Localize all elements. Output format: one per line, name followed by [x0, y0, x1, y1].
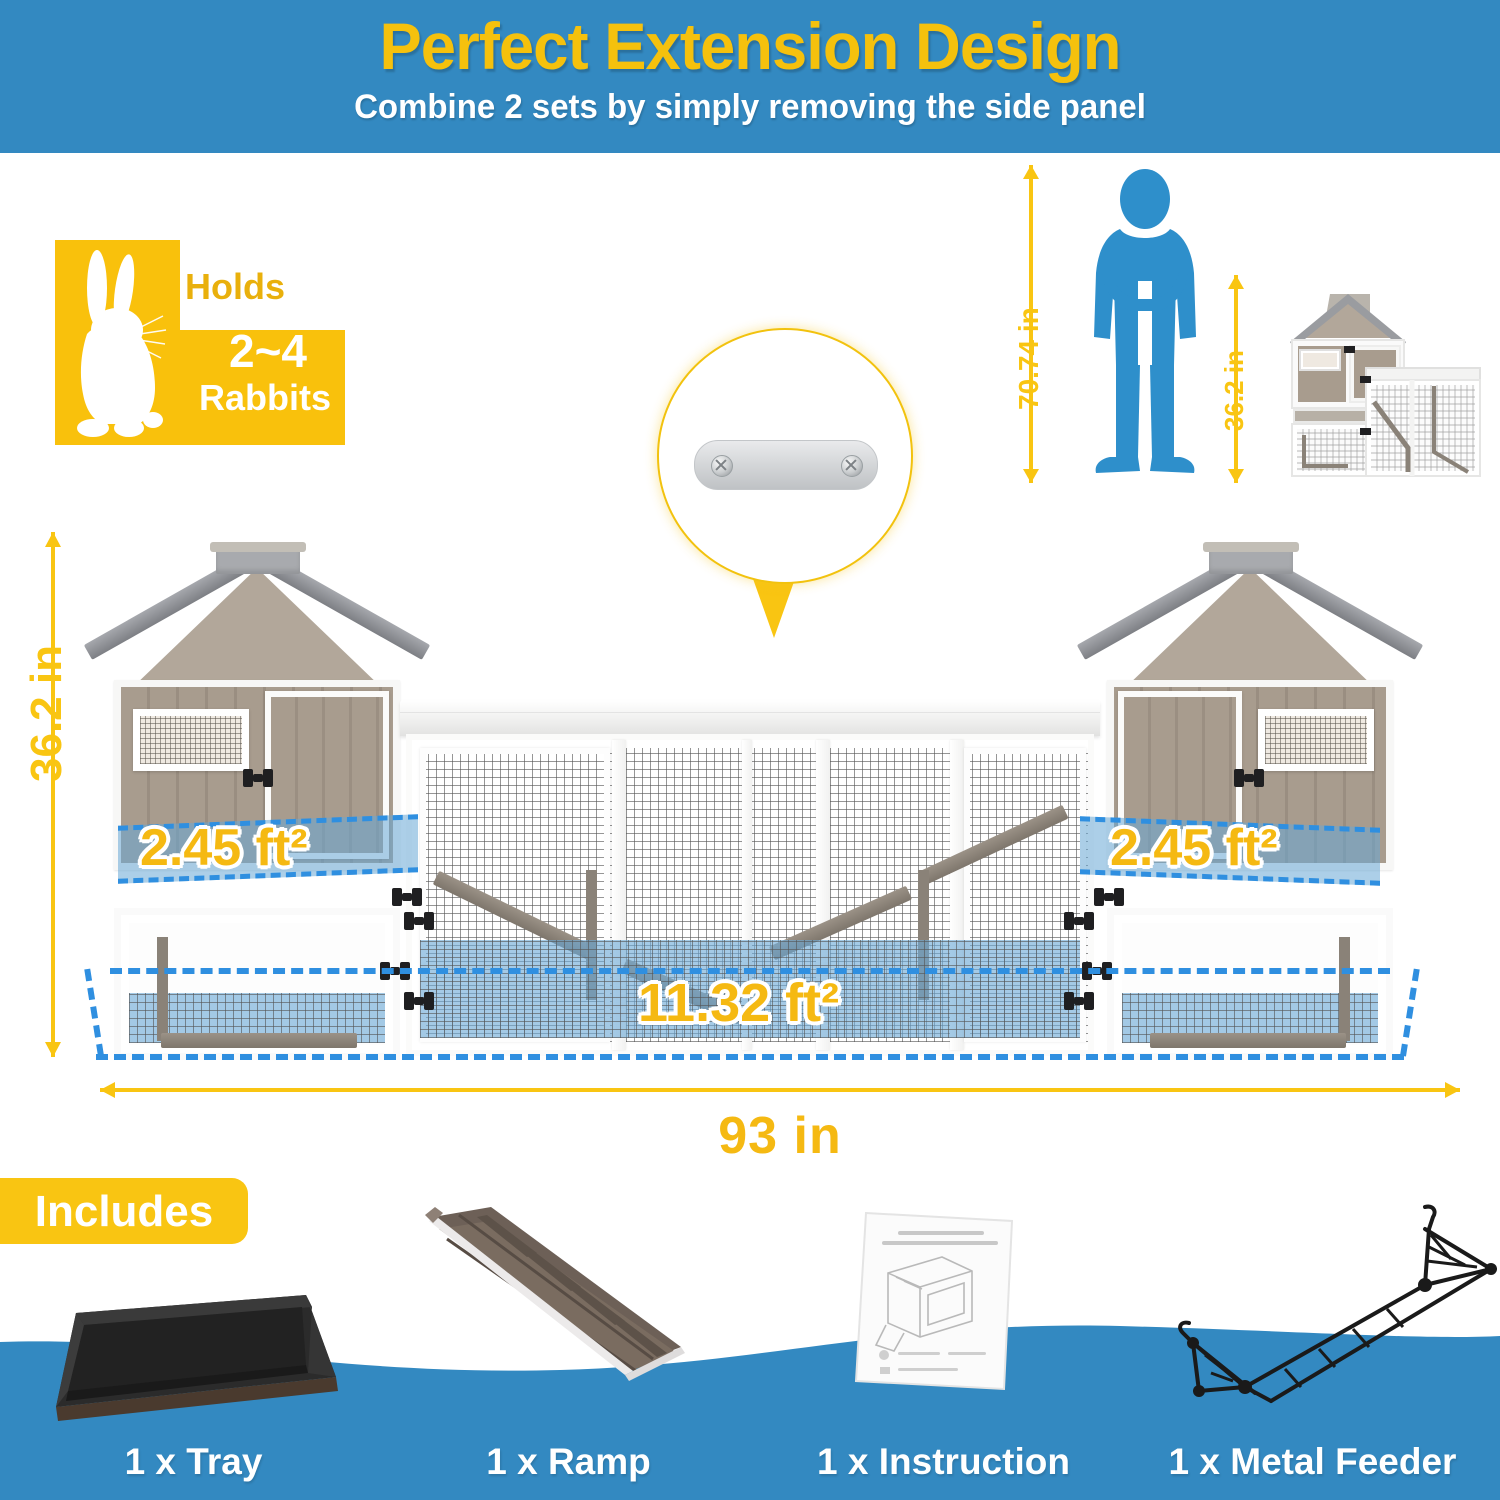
- person-height-label: 70.74 in: [1013, 307, 1045, 410]
- product-illustration: 2.45 ft² 2.45 ft² 11.32 ft²: [0, 520, 1500, 1140]
- mini-hutch-illustration: [1270, 280, 1485, 485]
- area-label-upper-right: 2.45 ft²: [1110, 818, 1278, 878]
- door-hinge-icon[interactable]: [1234, 767, 1264, 789]
- window-mesh: [1265, 716, 1367, 764]
- include-label-feeder: 1 x Metal Feeder: [1125, 1441, 1500, 1483]
- run-roof-panel: [400, 700, 1100, 736]
- plastic-tray-icon: [6, 1195, 381, 1445]
- holds-label: Holds: [185, 266, 345, 308]
- infographic-canvas: Perfect Extension Design Combine 2 sets …: [0, 0, 1500, 1500]
- connector-hinge-icon[interactable]: [392, 886, 422, 908]
- holds-unit: Rabbits: [175, 380, 355, 416]
- person-height-dimension: 70.74 in: [1017, 165, 1045, 483]
- rabbit-silhouette-icon: [67, 248, 169, 438]
- wooden-ramp-icon: [381, 1195, 756, 1445]
- overall-width-dimension: 93 in: [100, 1078, 1460, 1102]
- scale-comparison: 70.74 in 36.2 in: [985, 165, 1490, 490]
- door-hinge-icon[interactable]: [243, 767, 273, 789]
- include-item-ramp: 1 x Ramp: [381, 1195, 756, 1495]
- lower-run-left: [114, 908, 400, 1060]
- roof-ridge-cap: [210, 542, 306, 552]
- ramp-support-left: [157, 937, 168, 1041]
- platform-ledge-left: [161, 1033, 357, 1048]
- lower-run-right: [1107, 908, 1393, 1060]
- ramp-support-right: [1339, 937, 1350, 1041]
- roof-right: [1085, 540, 1415, 700]
- holds-count: 2~4: [183, 328, 353, 374]
- gable-wall: [132, 568, 382, 688]
- run-hinge-icon[interactable]: [404, 990, 434, 1012]
- mesh-window-left[interactable]: [133, 709, 249, 771]
- window-mesh: [140, 716, 242, 764]
- include-label-tray: 1 x Tray: [6, 1441, 381, 1483]
- connector-hinge-icon[interactable]: [1094, 886, 1124, 908]
- hutch-house-right: [1085, 540, 1415, 1060]
- mesh-window-right[interactable]: [1258, 709, 1374, 771]
- page-title: Perfect Extension Design: [30, 8, 1470, 84]
- include-item-feeder: 1 x Metal Feeder: [1125, 1195, 1500, 1495]
- person-silhouette-icon: [1080, 169, 1210, 481]
- platform-ledge-right: [1150, 1033, 1346, 1048]
- gable-wall: [1125, 568, 1375, 688]
- run-hinge-icon[interactable]: [404, 910, 434, 932]
- include-item-tray: 1 x Tray: [6, 1195, 381, 1495]
- screw-icon: [841, 455, 863, 477]
- lower-area-dash-bottom: [96, 1054, 1404, 1060]
- roof-ridge-cap: [1203, 542, 1299, 552]
- include-item-instruction: 1 x Instruction: [756, 1195, 1131, 1495]
- hutch-house-left: [92, 540, 422, 1060]
- include-label-instruction: 1 x Instruction: [756, 1441, 1131, 1483]
- overall-width-label: 93 in: [100, 1106, 1460, 1166]
- area-label-upper-left: 2.45 ft²: [140, 818, 308, 878]
- screw-icon: [711, 455, 733, 477]
- wire-hay-feeder-icon: [1125, 1195, 1500, 1445]
- hutch-height-dimension: 36.2 in: [1223, 275, 1249, 483]
- holds-badge: Holds 2~4 Rabbits: [55, 240, 345, 445]
- instruction-manual-icon: [756, 1195, 1131, 1445]
- include-label-ramp: 1 x Ramp: [381, 1441, 756, 1483]
- hutch-height-label: 36.2 in: [1219, 350, 1250, 431]
- roof-left: [92, 540, 422, 700]
- header-banner: Perfect Extension Design Combine 2 sets …: [0, 0, 1500, 153]
- connector-plate-icon: [694, 440, 878, 490]
- area-label-lower-run: 11.32 ft²: [638, 972, 839, 1034]
- page-subtitle: Combine 2 sets by simply removing the si…: [23, 88, 1478, 127]
